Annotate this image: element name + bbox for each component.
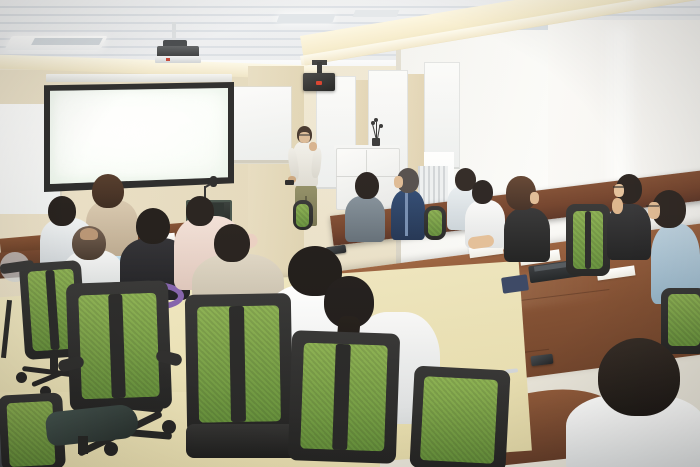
office-chair-spine <box>229 306 246 422</box>
seminar-room-photo: Man in a light grey/white long-sleeved s… <box>0 0 700 467</box>
office-chair-caster <box>16 372 27 383</box>
projector-power-led <box>166 58 170 61</box>
projector-base <box>155 56 201 63</box>
office-chair-mesh <box>296 204 309 227</box>
attendee-black-tshirt-head <box>136 208 170 244</box>
attendee-black-polo-hand <box>612 198 623 214</box>
attendee-white-foreground-right-head <box>598 338 680 416</box>
decor-vase <box>372 138 380 146</box>
decor-bud-2 <box>379 124 383 128</box>
whiteboard-right-tray <box>228 160 290 163</box>
attendee-woman-brown-hair-head <box>92 174 124 208</box>
recessed-light-center-icon <box>276 14 335 23</box>
office-chair-spine <box>585 211 591 269</box>
attendee-black-top-woman-body <box>504 208 550 262</box>
office-chair-mesh <box>420 376 498 464</box>
ceiling-vent-icon <box>353 10 400 17</box>
recessed-light-left-lens <box>31 38 103 45</box>
projector-pole <box>172 22 176 42</box>
projection-screen-glow <box>56 94 222 176</box>
office-chair-caster <box>162 420 176 434</box>
presentation-clicker <box>285 180 294 185</box>
attendee-beige-polo-head <box>214 224 250 262</box>
attendee-white-blouse-woman-head <box>472 180 493 204</box>
attendee-black-top-woman-face <box>530 192 539 204</box>
attendee-pink-shirt-head <box>186 196 214 226</box>
attendee-black-polo-glasses-icon <box>613 186 624 188</box>
attendee-balding-man-scalp <box>80 228 98 240</box>
attendee-left-front-dark-hair-head <box>48 196 76 226</box>
attendee-navy-tracksuit-body <box>391 190 425 240</box>
office-chair-mesh <box>428 210 442 236</box>
whiteboard-right <box>228 86 292 164</box>
attendee-blue-polo-glasses-icon <box>646 205 659 207</box>
jbl-logo-icon <box>316 81 322 85</box>
office-chair-caster <box>104 442 118 456</box>
detached-chair-post <box>78 436 88 454</box>
attendee-navy-tracksuit-face <box>394 176 403 188</box>
office-chair-seat <box>186 424 298 458</box>
projection-screen-case <box>46 74 232 82</box>
attendee-grey-check-shirt-head <box>355 172 379 199</box>
presenter-gesturing-hand <box>309 142 317 151</box>
table-microphone-icon <box>210 176 217 187</box>
attendee-grey-check-shirt-body <box>345 196 385 242</box>
presenter-glasses-icon <box>299 134 310 136</box>
office-chair-mesh <box>668 294 700 346</box>
attendee-navy-tracksuit-zip <box>405 192 408 236</box>
decor-bud-3 <box>374 118 378 122</box>
